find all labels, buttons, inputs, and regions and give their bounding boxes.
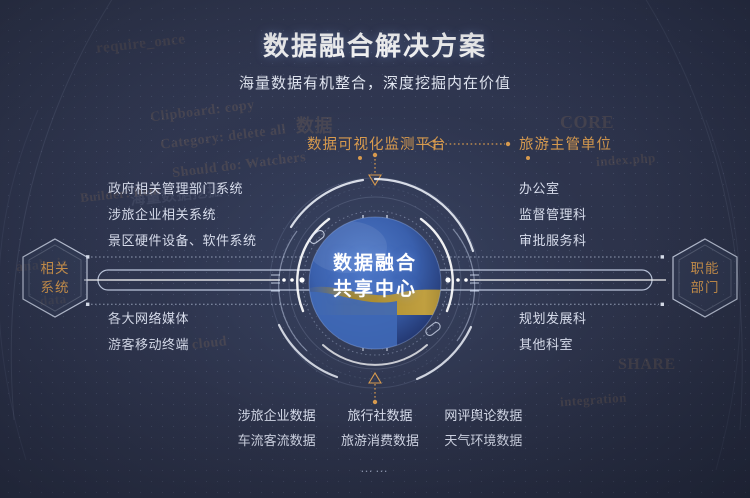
infographic-poster: require_onceClipboard: copyCategory: del… — [0, 0, 750, 498]
list-item: 办公室 — [519, 176, 587, 202]
data-item: 天气环境数据 — [432, 430, 535, 449]
label-tick-markers — [300, 152, 560, 168]
list-item: 游客移动终端 — [108, 332, 189, 358]
hexagon-left-label: 相关 系统 — [18, 236, 92, 320]
data-item: 涉旅企业数据 — [225, 405, 328, 424]
bottom-data-grid: 涉旅企业数据 旅行社数据 网评舆论数据 车流客流数据 旅游消费数据 天气环境数据 — [225, 405, 535, 449]
right-bottom-department-list: 规划发展科 其他科室 — [519, 306, 587, 358]
hexagon-right-line2: 部门 — [691, 278, 720, 297]
hexagon-functional-departments[interactable]: 职能 部门 — [668, 236, 742, 320]
hexagon-left-line1: 相关 — [41, 259, 70, 278]
hexagon-related-systems[interactable]: 相关 系统 — [18, 236, 92, 320]
list-item: 涉旅企业相关系统 — [108, 202, 257, 228]
list-item: 监督管理科 — [519, 202, 587, 228]
hexagon-left-line2: 系统 — [41, 278, 70, 297]
left-top-source-list: 政府相关管理部门系统 涉旅企业相关系统 景区硬件设备、软件系统 — [108, 176, 257, 254]
list-item: 景区硬件设备、软件系统 — [108, 228, 257, 254]
data-item: 旅游消费数据 — [328, 430, 431, 449]
background-watermark-text: cloud — [191, 334, 228, 354]
center-label-line1: 数据融合 — [267, 251, 483, 277]
right-top-department-list: 办公室 监督管理科 审批服务科 — [519, 176, 587, 254]
left-bottom-source-list: 各大网络媒体 游客移动终端 — [108, 306, 189, 358]
center-node[interactable]: 数据融合 共享中心 — [267, 175, 483, 391]
center-node-label: 数据融合 共享中心 — [267, 251, 483, 303]
background-watermark-text: Category: delete all — [159, 122, 287, 153]
list-item: 其他科室 — [519, 332, 587, 358]
center-label-line2: 共享中心 — [267, 277, 483, 303]
background-watermark-text: integration — [560, 390, 628, 411]
background-watermark-text: CORE — [560, 112, 614, 133]
data-item: 旅行社数据 — [328, 405, 431, 424]
hexagon-right-label: 职能 部门 — [668, 236, 742, 320]
bottom-ellipsis: …… — [0, 460, 750, 475]
hexagon-right-line1: 职能 — [691, 259, 720, 278]
page-title: 数据融合解决方案 — [0, 26, 750, 63]
data-item: 网评舆论数据 — [432, 405, 535, 424]
list-item: 规划发展科 — [519, 306, 587, 332]
background-watermark-text: Clipboard: copy — [149, 98, 255, 127]
list-item: 各大网络媒体 — [108, 306, 189, 332]
list-item: 政府相关管理部门系统 — [108, 176, 257, 202]
data-item: 车流客流数据 — [225, 430, 328, 449]
background-watermark-text: SHARE — [618, 356, 676, 374]
authority-label: 旅游主管单位 — [519, 133, 612, 154]
list-item: 审批服务科 — [519, 228, 587, 254]
page-subtitle: 海量数据有机整合，深度挖掘内在价值 — [0, 72, 750, 93]
left-arrow-icon — [425, 138, 513, 150]
